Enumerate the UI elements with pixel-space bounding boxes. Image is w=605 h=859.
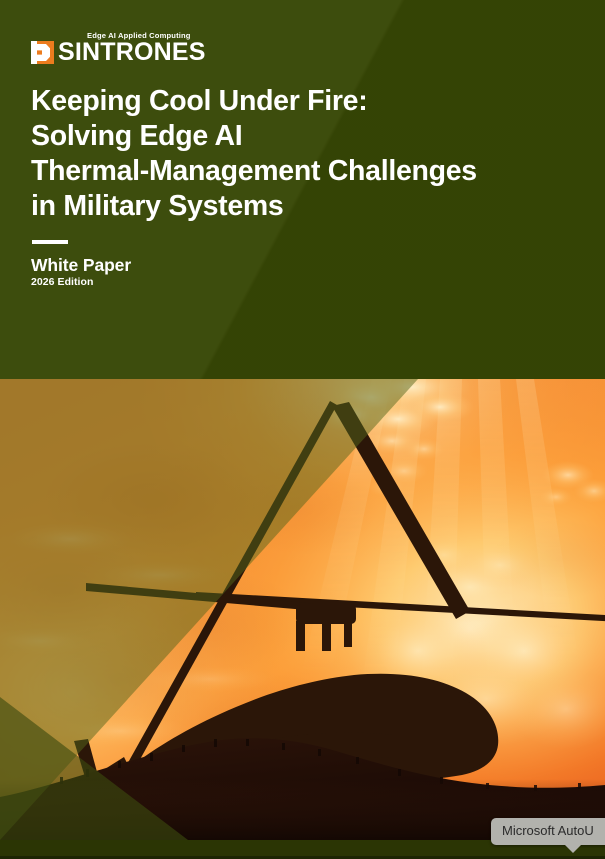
title-line-1: Keeping Cool Under Fire: [31, 84, 556, 119]
cover-header: Edge AI Applied Computing SINTRONES Keep… [0, 0, 605, 379]
sintrones-logo-mark-icon [31, 41, 54, 64]
whitepaper-cover-page: Edge AI Applied Computing SINTRONES Keep… [0, 0, 605, 859]
cover-hero-image [0, 379, 605, 840]
logo-chevron-icon [37, 44, 50, 61]
title-line-4: in Military Systems [31, 189, 556, 224]
title-line-2: Solving Edge AI [31, 119, 556, 154]
hero-artwork [0, 379, 605, 840]
page-title: Keeping Cool Under Fire: Solving Edge AI… [31, 84, 556, 224]
title-line-3: Thermal-Management Challenges [31, 154, 556, 189]
sintrones-logo[interactable]: Edge AI Applied Computing SINTRONES [31, 31, 241, 67]
document-kind-label: White Paper [31, 255, 131, 276]
logo-wordmark: SINTRONES [58, 40, 206, 65]
tooltip-pointer [564, 844, 582, 853]
logo-lockup: SINTRONES [31, 40, 206, 65]
document-edition-label: 2026 Edition [31, 276, 93, 288]
title-divider [32, 240, 68, 244]
autoupdate-tooltip: Microsoft AutoU [491, 818, 605, 845]
